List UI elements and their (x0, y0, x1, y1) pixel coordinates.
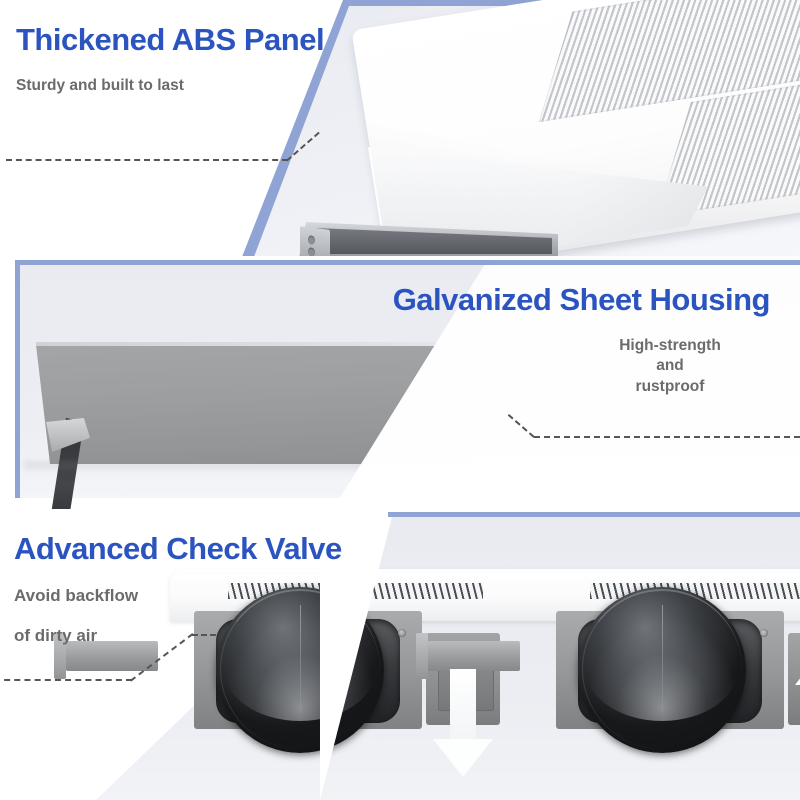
panel1-title: Thickened ABS Panel (16, 22, 324, 58)
feature-panel-galvanized-sheet-housing: Galvanized Sheet Housing High-strength a… (0, 256, 800, 514)
feature-panel-advanced-check-valve: Advanced Check Valve Avoid backflow of d… (0, 509, 800, 800)
panel3-top-blue-rule (388, 512, 800, 517)
panel2-subtitle-line-1: High-strength (570, 336, 770, 356)
feature-panel-thickened-abs-panel: Thickened ABS Panel Sturdy and built to … (0, 0, 800, 262)
panel2-left-blue-border (15, 260, 20, 498)
check-valve-mount-plate (556, 611, 784, 729)
abs-panel-photo (351, 0, 800, 262)
housing-top-highlight (36, 342, 460, 346)
panel3-title: Advanced Check Valve (14, 531, 342, 567)
infographic-page: Thickened ABS Panel Sturdy and built to … (0, 0, 800, 800)
panel3-text-block: Advanced Check Valve Avoid backflow of d… (14, 531, 342, 648)
panel2-title: Galvanized Sheet Housing (393, 282, 770, 318)
panel1-subtitle: Sturdy and built to last (16, 76, 324, 96)
screw-dot-icon (760, 629, 768, 637)
panel2-callout-dashed-line (534, 436, 800, 438)
panel2-subtitle-block: High-strength and rustproof (570, 336, 770, 397)
panel2-top-blue-border (15, 260, 800, 265)
check-valve-flap-dome (578, 587, 746, 753)
panel3-subtitle-line-1: Avoid backflow (14, 585, 342, 607)
panel2-subtitle-line-2: and (570, 356, 770, 376)
panel2-subtitle-line-3: rustproof (570, 377, 770, 397)
panel3-callout-dashed-line (0, 679, 132, 681)
duct-connector-tab (416, 633, 428, 679)
screw-dot-icon (398, 629, 406, 637)
screw-hole-icon (308, 235, 315, 245)
panel2-title-block: Galvanized Sheet Housing (393, 282, 770, 318)
panel1-callout-dashed-line (6, 159, 288, 161)
airflow-arrow-down-icon (434, 669, 494, 779)
panel1-text-block: Thickened ABS Panel Sturdy and built to … (16, 22, 324, 96)
check-valve-seam (662, 605, 663, 725)
duct-connector-arm (428, 641, 520, 671)
panel3-callout-dashed-tip (192, 634, 216, 636)
airflow-arrow-up-icon (796, 647, 800, 751)
